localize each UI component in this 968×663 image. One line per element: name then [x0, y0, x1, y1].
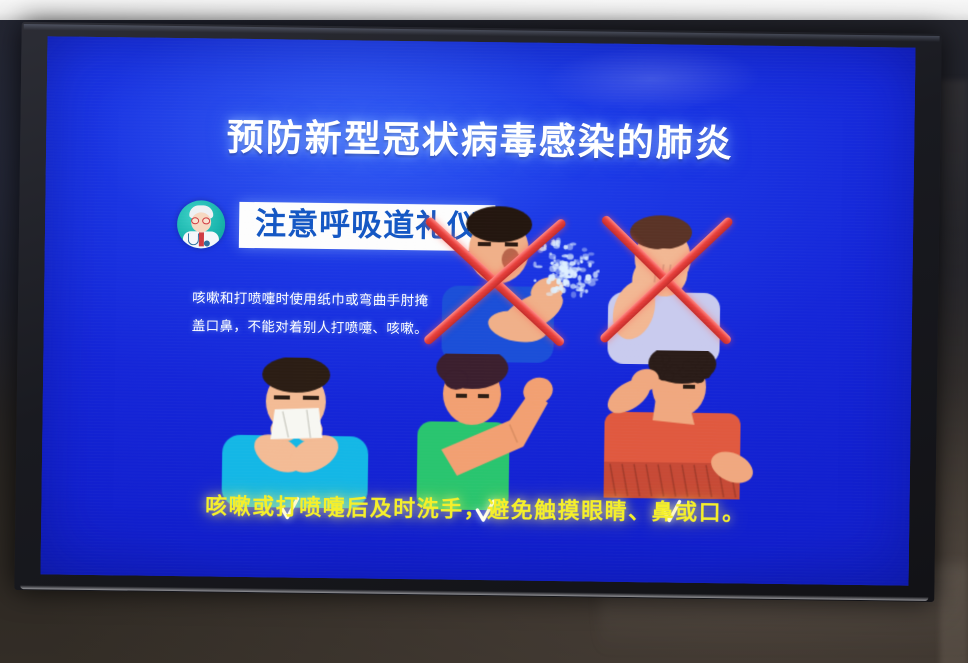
- ceiling-strip: [0, 0, 968, 22]
- television: 预防新型冠状病毒感染的肺炎 注意呼吸道礼仪: [14, 22, 941, 602]
- health-poster-slide: 预防新型冠状病毒感染的肺炎 注意呼吸道礼仪: [41, 36, 916, 585]
- glasses-left-icon: [191, 217, 199, 224]
- figure-illustration: [396, 353, 568, 511]
- footer-text: 咳嗽或打喷嚏后及时洗手，避免触摸眼睛、鼻或口。: [41, 486, 909, 529]
- figure-cough-into-hands: [413, 203, 600, 363]
- photo-scene: 预防新型冠状病毒感染的肺炎 注意呼吸道礼仪: [0, 0, 968, 663]
- tv-screen: 预防新型冠状病毒感染的肺炎 注意呼吸道礼仪: [41, 36, 916, 585]
- stethoscope-icon: [188, 233, 199, 245]
- page-title: 预防新型冠状病毒感染的肺炎: [46, 104, 915, 169]
- stethoscope-bell: [204, 240, 210, 246]
- doctor-avatar-icon: [177, 200, 226, 249]
- glasses-right-icon: [202, 217, 210, 224]
- figure-illustration: [413, 203, 600, 363]
- figure-use-tissue: [209, 357, 381, 509]
- wall-edge-highlight: [940, 80, 968, 663]
- figure-illustration: [209, 357, 381, 509]
- figure-illustration: [589, 205, 751, 365]
- figure-cough-into-elbow: [396, 353, 568, 511]
- figure-illustration: [581, 349, 763, 513]
- figure-cover-with-bare-hands: [589, 205, 751, 365]
- figure-cover-with-collar: [581, 349, 763, 513]
